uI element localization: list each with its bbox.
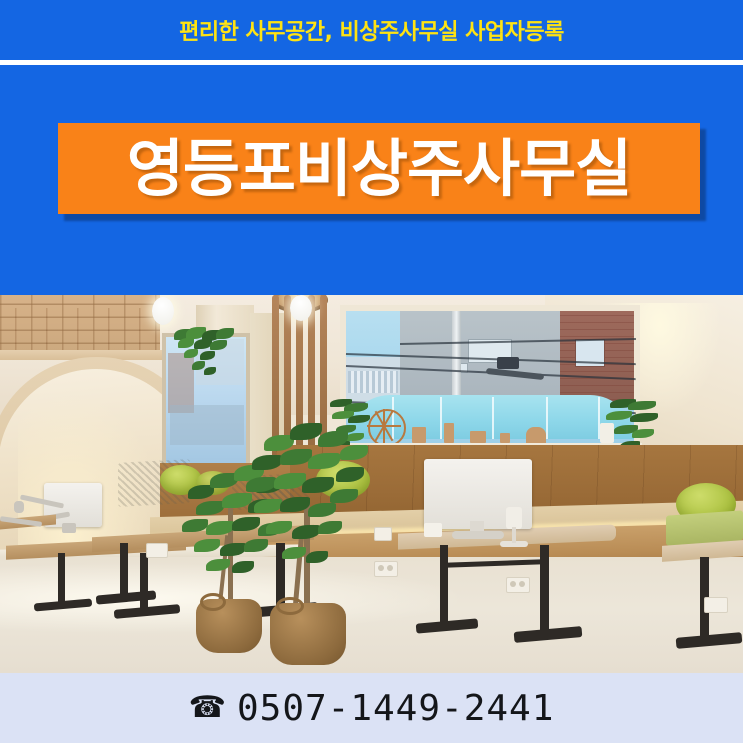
sill-ornament [470, 431, 486, 443]
desk-lamp [506, 507, 522, 529]
power-outlet [704, 597, 728, 613]
awning-rib [492, 397, 494, 439]
sill-ornament [526, 427, 546, 443]
desk-leg [58, 553, 65, 605]
power-outlet [146, 543, 168, 558]
banner-tagline: 편리한 사무공간, 비상주사무실 사업자등록 [179, 14, 564, 46]
desk-leg [540, 545, 549, 633]
top-banner: 편리한 사무공간, 비상주사무실 사업자등록 [0, 0, 743, 60]
outlet-socket [510, 581, 516, 587]
desk-leg [120, 543, 128, 597]
pendant-light [152, 297, 174, 325]
phone-number-block[interactable]: ☎ 0507-1449-2441 [189, 688, 555, 729]
headline-box: 영등포비상주사무실 [58, 123, 700, 214]
telephone-icon: ☎ [189, 693, 227, 723]
pole-transformer [497, 357, 519, 369]
monitor-stand-base [452, 531, 504, 539]
desk-leg [440, 545, 448, 625]
sill-ornament [412, 427, 426, 443]
awning-rib [440, 397, 442, 439]
desk-leg [140, 553, 148, 613]
footer-contact-bar: ☎ 0507-1449-2441 [0, 673, 743, 743]
poster: 편리한 사무공간, 비상주사무실 사업자등록 영등포비상주사무실 [0, 0, 743, 743]
monitor-arm-clamp [62, 523, 76, 533]
outlet-socket [519, 581, 525, 587]
outside-building-grille [348, 371, 398, 393]
power-adapter [424, 523, 442, 537]
awning-rib [546, 397, 548, 439]
office-photo [0, 295, 743, 673]
sill-ornament [444, 423, 454, 443]
monitor-arm-joint [14, 501, 24, 513]
headline-title: 영등포비상주사무실 [127, 138, 631, 200]
sill-ornament [500, 433, 510, 443]
phone-number: 0507-1449-2441 [237, 688, 554, 729]
potted-tree-right [238, 415, 388, 635]
desk-lamp-pole [512, 527, 516, 543]
hanging-plant [172, 327, 242, 389]
pendant-light [290, 295, 312, 321]
headline-section: 영등포비상주사무실 [0, 65, 743, 295]
